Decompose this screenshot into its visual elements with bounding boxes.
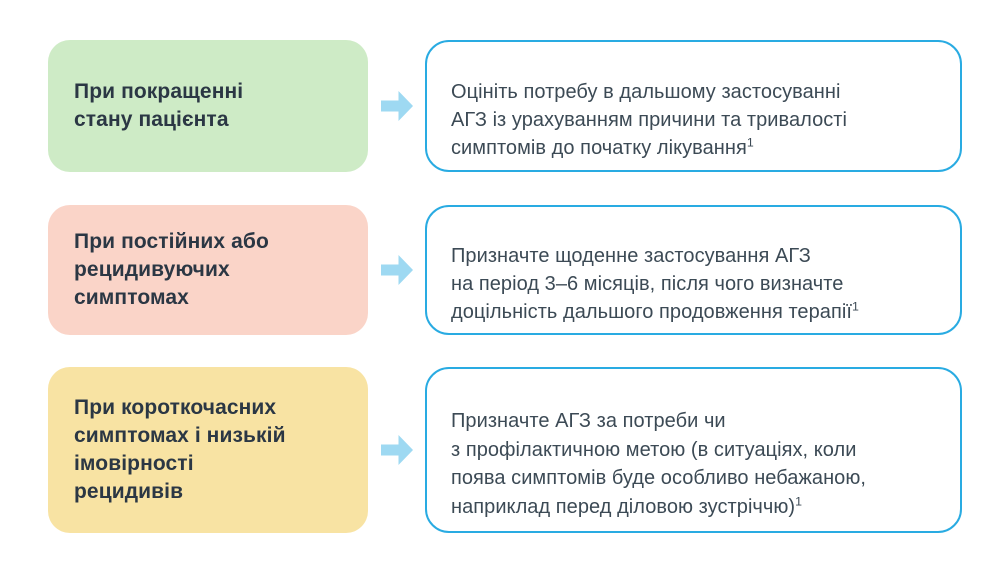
action-card-text: Призначте АГЗ за потреби чи з профілакти… [451,379,866,521]
arrow-connector [368,367,425,533]
condition-card-text: При короткочасних симптомах і низькій ім… [74,394,286,506]
condition-card-text: При покращенні стану пацієнта [74,78,243,134]
flow-row: При короткочасних симптомах і низькій ім… [48,367,962,533]
action-card-text: Оцініть потребу в дальшому застосуванні … [451,49,847,163]
flow-row: При постійних або рецидивуючих симптомах… [48,205,962,335]
arrow-right-icon [381,435,413,465]
arrow-right-icon [381,255,413,285]
action-card-footnote: 1 [747,136,754,150]
action-card-persistent: Призначте щоденне застосування АГЗ на пе… [425,205,962,335]
action-card-improvement: Оцініть потребу в дальшому застосуванні … [425,40,962,172]
condition-card-text: При постійних або рецидивуючих симптомах [74,228,269,312]
action-card-footnote: 1 [795,494,802,508]
flow-row: При покращенні стану пацієнта Оцініть по… [48,40,962,172]
action-card-body: Оцініть потребу в дальшому застосуванні … [451,81,847,160]
recommendations-flow-diagram: При покращенні стану пацієнта Оцініть по… [0,0,1000,577]
action-card-intermittent: Призначте АГЗ за потреби чи з профілакти… [425,367,962,533]
arrow-connector [368,205,425,335]
condition-card-intermittent: При короткочасних симптомах і низькій ім… [48,367,368,533]
condition-card-improvement: При покращенні стану пацієнта [48,40,368,172]
action-card-footnote: 1 [852,300,859,314]
action-card-body: Призначте АГЗ за потреби чи з профілакти… [451,410,866,517]
action-card-body: Призначте щоденне застосування АГЗ на пе… [451,245,852,324]
action-card-text: Призначте щоденне застосування АГЗ на пе… [451,213,859,327]
condition-card-persistent: При постійних або рецидивуючих симптомах [48,205,368,335]
arrow-right-icon [381,91,413,121]
arrow-connector [368,40,425,172]
